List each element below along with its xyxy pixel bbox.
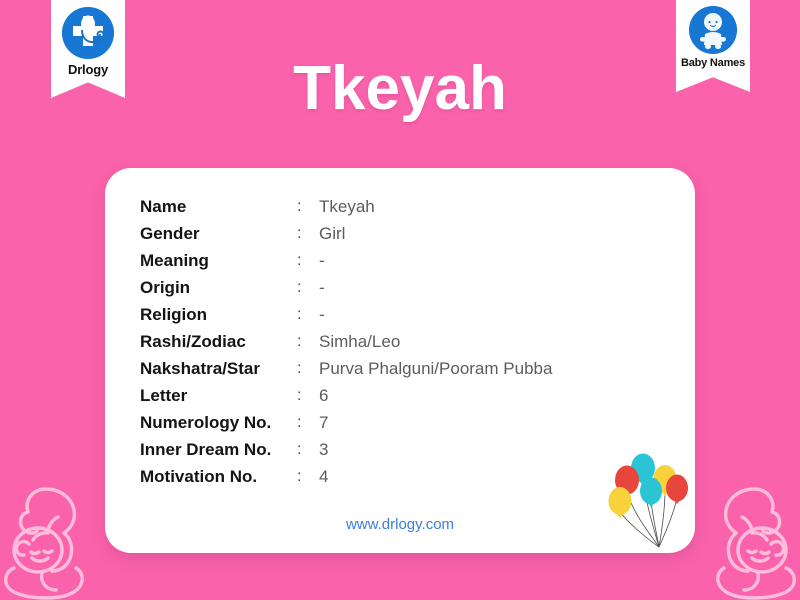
drlogy-medical-cross-doctor-icon [62,7,114,59]
row-separator: : [297,247,319,274]
row-label-rashi-zodiac: Rashi/Zodiac [140,328,297,355]
row-label-religion: Religion [140,301,297,328]
baby-icon [689,6,737,54]
row-label-numerology-no: Numerology No. [140,409,297,436]
row-label-inner-dream-no: Inner Dream No. [140,436,297,463]
row-separator: : [297,382,319,409]
table-row: Religion : - [140,301,552,328]
row-value-origin: - [319,274,552,301]
row-label-origin: Origin [140,274,297,301]
mother-and-baby-outline-icon-left [0,472,116,600]
footer-url[interactable]: www.drlogy.com [105,516,695,533]
table-row: Gender : Girl [140,220,552,247]
mother-and-baby-outline-icon-right [684,472,800,600]
row-separator: : [297,409,319,436]
row-separator: : [297,328,319,355]
row-separator: : [297,463,319,490]
row-label-gender: Gender [140,220,297,247]
row-value-numerology-no: 7 [319,409,552,436]
table-row: Nakshatra/Star : Purva Phalguni/Pooram P… [140,355,552,382]
row-value-religion: - [319,301,552,328]
name-details-table: Name : Tkeyah Gender : Girl Meaning : - … [140,193,552,490]
row-separator: : [297,274,319,301]
poster-canvas: Drlogy Baby Names Tkeyah Name : Tkeyah [0,0,800,600]
table-row: Meaning : - [140,247,552,274]
table-body: Name : Tkeyah Gender : Girl Meaning : - … [140,193,552,490]
page-title: Tkeyah [0,58,800,120]
table-row: Motivation No. : 4 [140,463,552,490]
table-row: Numerology No. : 7 [140,409,552,436]
row-separator: : [297,193,319,220]
row-value-nakshatra-star: Purva Phalguni/Pooram Pubba [319,355,552,382]
row-value-inner-dream-no: 3 [319,436,552,463]
row-separator: : [297,436,319,463]
row-value-name: Tkeyah [319,193,552,220]
row-value-letter: 6 [319,382,552,409]
table-row: Letter : 6 [140,382,552,409]
row-label-nakshatra-star: Nakshatra/Star [140,355,297,382]
row-label-motivation-no: Motivation No. [140,463,297,490]
row-separator: : [297,220,319,247]
table-row: Inner Dream No. : 3 [140,436,552,463]
row-value-rashi-zodiac: Simha/Leo [319,328,552,355]
row-value-meaning: - [319,247,552,274]
row-label-letter: Letter [140,382,297,409]
table-row: Name : Tkeyah [140,193,552,220]
row-separator: : [297,355,319,382]
table-row: Origin : - [140,274,552,301]
row-separator: : [297,301,319,328]
balloons-illustration [607,448,693,553]
table-row: Rashi/Zodiac : Simha/Leo [140,328,552,355]
row-value-motivation-no: 4 [319,463,552,490]
row-label-meaning: Meaning [140,247,297,274]
row-label-name: Name [140,193,297,220]
name-details-card: Name : Tkeyah Gender : Girl Meaning : - … [105,168,695,553]
row-value-gender: Girl [319,220,552,247]
